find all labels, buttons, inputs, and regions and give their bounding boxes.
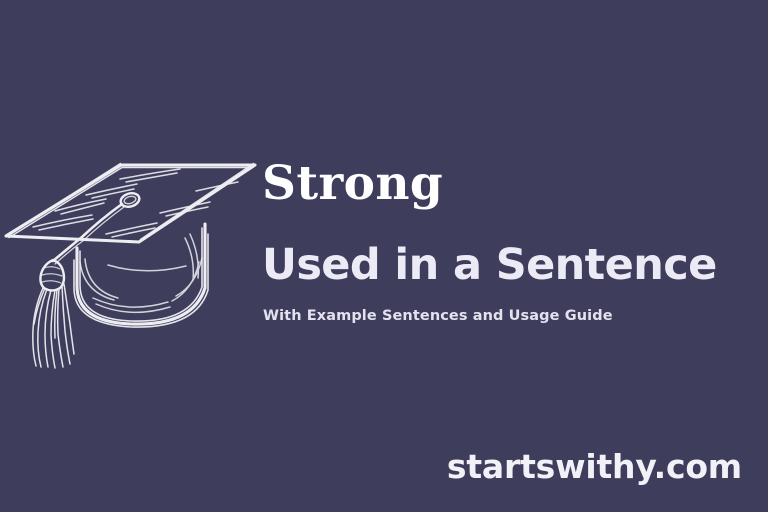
headline-subtitle: Used in a Sentence	[262, 244, 717, 287]
headline-block: Strong Used in a Sentence With Example S…	[262, 160, 762, 207]
graduation-cap-icon	[0, 138, 262, 370]
headline-tagline: With Example Sentences and Usage Guide	[263, 308, 613, 324]
brand-watermark: startswithy.com	[447, 447, 742, 486]
page-title: Strong	[262, 160, 762, 207]
promo-card: Strong Used in a Sentence With Example S…	[0, 0, 768, 512]
